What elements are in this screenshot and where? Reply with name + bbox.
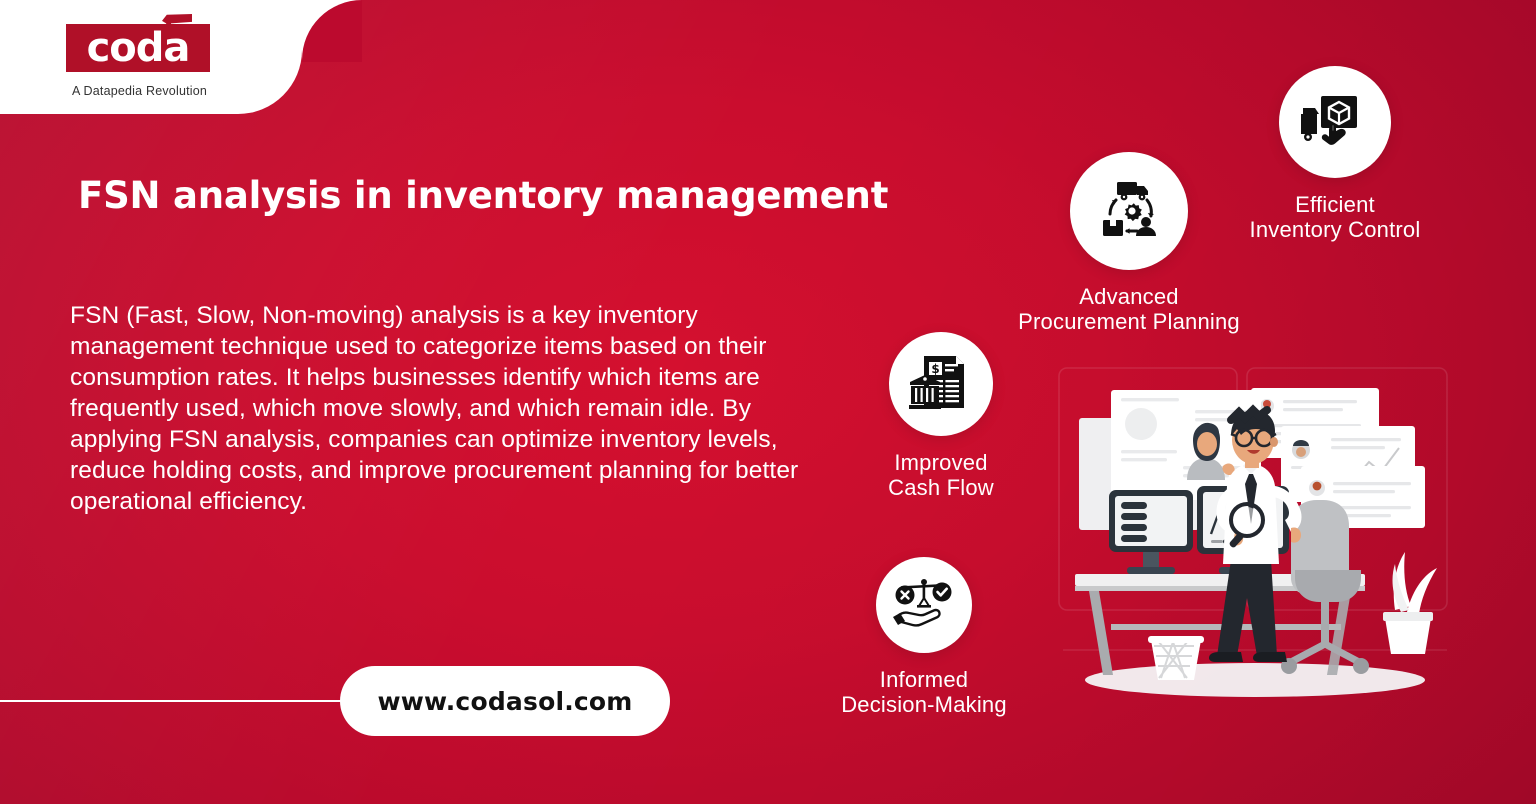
feature-efficient-inventory-control[interactable]: Efficient Inventory Control — [1238, 66, 1432, 242]
website-url-pill[interactable]: www.codasol.com — [340, 666, 670, 736]
feature-label: Informed Decision-Making — [828, 667, 1020, 717]
feature-label: Advanced Procurement Planning — [1000, 284, 1258, 334]
feature-label: Improved Cash Flow — [862, 450, 1020, 500]
supply-chain-cycle-icon — [1091, 176, 1167, 246]
office-worker-scene — [1055, 362, 1455, 710]
feature-icon-circle — [876, 557, 972, 653]
body-paragraph: FSN (Fast, Slow, Non-moving) analysis is… — [70, 300, 830, 517]
truck-box-hand-icon — [1299, 90, 1371, 154]
feature-advanced-procurement-planning[interactable]: Advanced Procurement Planning — [1000, 152, 1258, 334]
logo-tagline: A Datapedia Revolution — [72, 84, 207, 98]
feature-label: Efficient Inventory Control — [1238, 192, 1432, 242]
coda-logo[interactable]: coda A Datapedia Revolution — [66, 14, 236, 102]
logo-mark: coda — [66, 14, 210, 72]
bank-invoice-icon: $ — [908, 352, 974, 416]
website-url-text: www.codasol.com — [377, 687, 632, 716]
potted-plant — [1383, 552, 1437, 654]
header-tab-notch — [302, 0, 362, 62]
feature-icon-circle — [1070, 152, 1188, 270]
feature-informed-decision-making[interactable]: Informed Decision-Making — [828, 557, 1020, 717]
office-illustration — [1055, 362, 1455, 710]
feature-improved-cash-flow[interactable]: $ Improved Cash Flow — [862, 332, 1020, 500]
feature-icon-circle — [1279, 66, 1391, 178]
svg-text:$: $ — [931, 362, 939, 376]
scales-on-hand-icon — [892, 576, 956, 634]
logo-wordmark: coda — [66, 24, 210, 72]
page-title: FSN analysis in inventory management — [78, 174, 908, 217]
feature-icon-circle: $ — [889, 332, 993, 436]
